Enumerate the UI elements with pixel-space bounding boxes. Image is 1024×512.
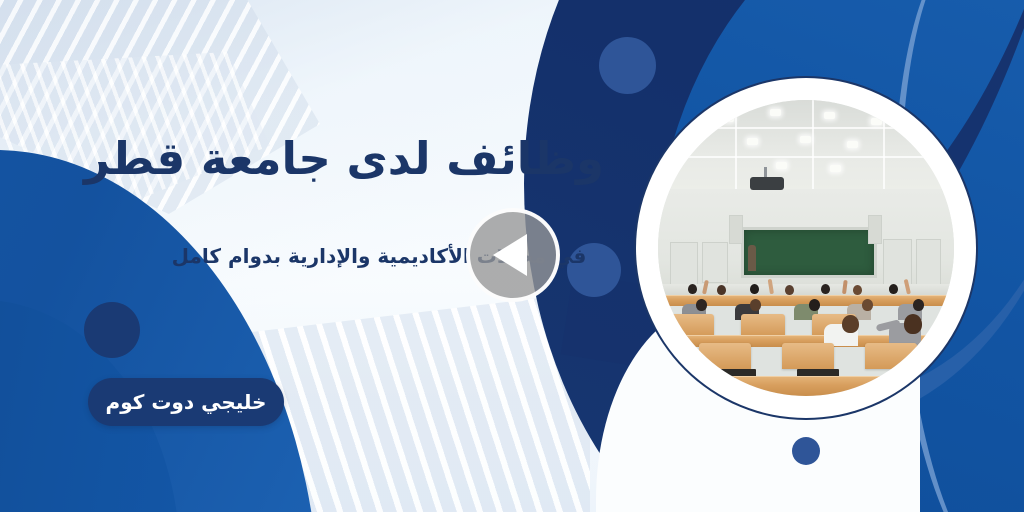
photo-ceiling-line [658,127,954,129]
photo-student-head [750,299,761,311]
accent-dot-top [599,37,656,94]
photo-ceiling-light [871,118,882,125]
photo-student-head [853,285,862,295]
photo-student-head [809,299,820,311]
photo-ceiling-light [800,136,811,143]
photo-wall-panel [883,239,912,285]
photo-ceiling-light [847,141,858,148]
photo-ceiling-light [824,112,835,119]
photo-student-head [904,314,922,334]
photo-seat [782,343,834,369]
photo-wall-panel [670,242,699,285]
photo-student-head [750,284,759,294]
photo-raised-arm [842,280,848,294]
photo-wall-panel [916,239,942,285]
photo-ceiling-line [735,100,737,192]
photo-wall-panel [868,215,882,244]
lecture-hall-photo [658,100,954,396]
photo-ceiling-line [658,156,954,158]
photo-seat [670,314,714,336]
photo-ceiling-light [830,165,841,172]
promo-banner: وظائف لدى جامعة قطر في مجالات الأكاديمية… [0,0,1024,512]
photo-desk-row [658,376,954,396]
photo-professor [748,245,756,271]
play-button[interactable] [466,208,560,302]
page-title: وظائف لدى جامعة قطر [164,132,604,185]
photo-ceiling-line [812,100,814,192]
photo-seat [741,314,785,336]
photo-raised-arm [702,280,709,295]
brand-badge-label: خليجي دوت كوم [106,390,267,414]
photo-student-head [913,299,924,311]
photo-ceiling-light [770,109,781,116]
photo-ceiling-light [723,115,734,122]
photo-student-head [842,315,859,333]
photo-seat [865,343,917,369]
brand-badge[interactable]: خليجي دوت كوم [88,378,284,426]
accent-dot-left [84,302,140,358]
photo-student-head [862,299,873,311]
photo-ceiling-light [747,138,758,145]
accent-dot-small [792,437,820,465]
photo-student-head [717,285,726,295]
photo-student-head [889,284,898,294]
photo-seating-rows [658,286,954,396]
photo-projector [750,177,784,190]
photo-student-head [821,284,830,294]
photo-wall-panel [702,242,728,282]
photo-ceiling-line [883,100,885,192]
photo-ceiling [658,100,954,192]
photo-ceiling-light [776,162,787,169]
photo-seat [699,343,751,369]
photo-ring-frame [636,78,976,418]
photo-student-head [696,299,707,311]
photo-student-head [688,284,697,294]
photo-student-head [785,285,794,295]
photo-wall-panel [729,215,743,244]
photo-chalkboard [741,227,877,277]
play-icon [493,234,527,276]
